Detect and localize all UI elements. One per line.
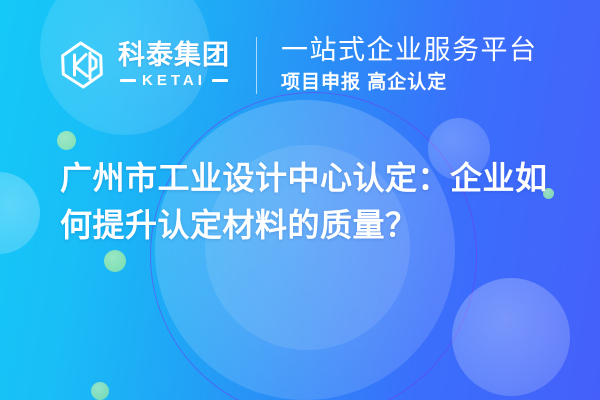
green-dot-upper-left-icon	[57, 131, 76, 150]
slogan-main: 一站式企业服务平台	[281, 35, 538, 67]
large-soft-circle-icon	[155, 100, 455, 400]
page-title: 广州市工业设计中心认定：企业如 何提升认定材料的质量？	[60, 155, 560, 249]
header-divider	[256, 37, 257, 94]
slogan-block: 一站式企业服务平台 项目申报 高企认定	[281, 35, 538, 96]
slogan-sub: 项目申报 高企认定	[281, 71, 538, 96]
page-title-line-2: 何提升认定材料的质量？	[60, 202, 560, 249]
brand-name-en-row: KETAI	[118, 72, 230, 89]
green-dot-mid-left-icon	[104, 250, 126, 272]
promo-banner: 科泰集团 KETAI 一站式企业服务平台 项目申报 高企认定 广州市工业设计中心…	[0, 0, 600, 400]
left-edge-circle-icon	[0, 172, 40, 254]
brand-logo[interactable]: 科泰集团 KETAI	[58, 40, 230, 90]
page-title-line-1: 广州市工业设计中心认定：企业如	[60, 155, 560, 202]
wordmark-rule-left-icon	[120, 79, 136, 82]
bottom-right-circle-icon	[452, 278, 570, 396]
green-dot-bottom-left-icon	[91, 382, 109, 400]
brand-name-en: KETAI	[142, 72, 206, 89]
banner-header: 科泰集团 KETAI 一站式企业服务平台 项目申报 高企认定	[0, 0, 600, 130]
brand-wordmark: 科泰集团 KETAI	[118, 41, 230, 89]
ketai-kd-monogram-icon	[58, 40, 106, 90]
brand-name-cn: 科泰集团	[118, 41, 230, 69]
wordmark-rule-right-icon	[212, 79, 228, 82]
